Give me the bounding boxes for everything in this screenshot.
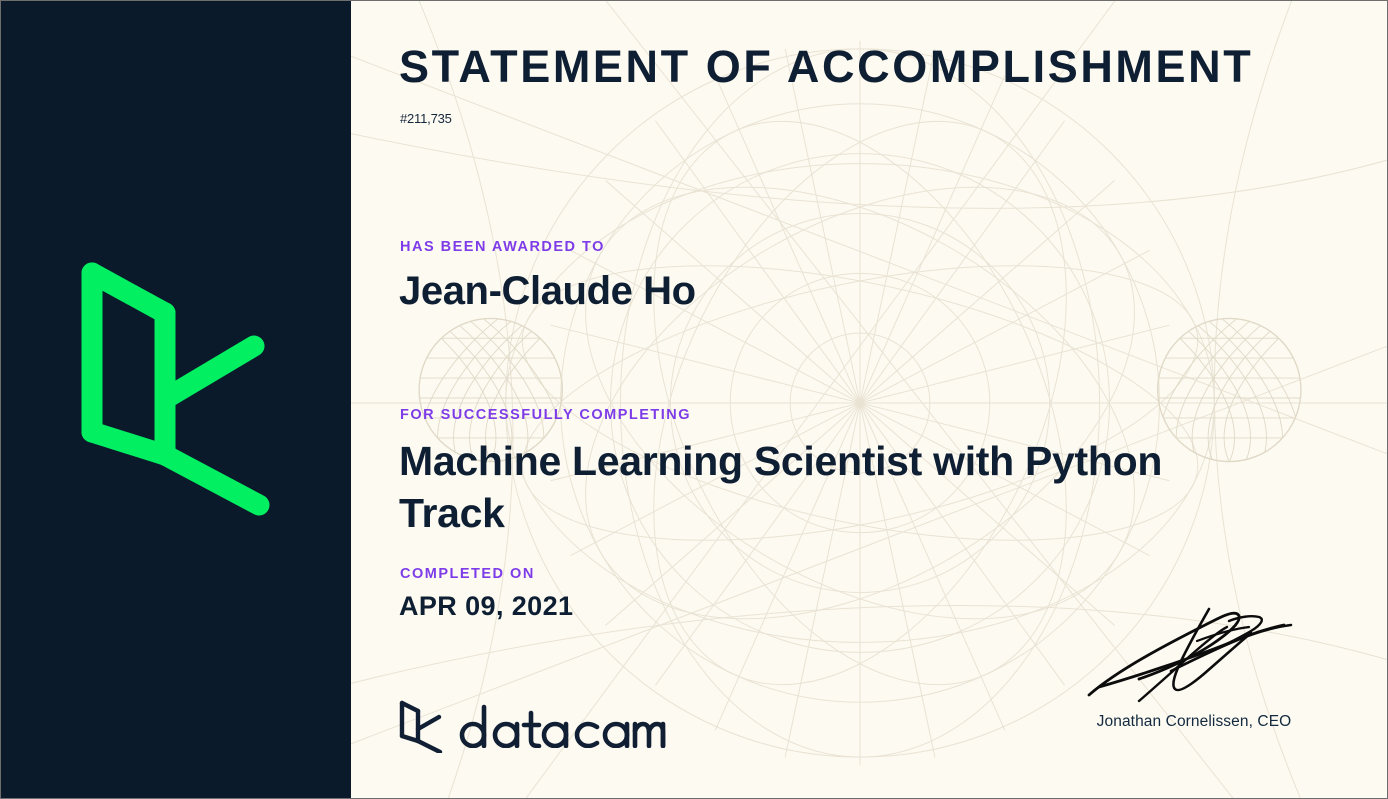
brand-sidebar [1, 1, 351, 798]
datacamp-logo-icon [79, 259, 279, 519]
certificate-card: STATEMENT OF ACCOMPLISHMENT #211,735 HAS… [0, 0, 1388, 799]
signatory-name: Jonathan Cornelissen, CEO [1049, 713, 1339, 731]
datacamp-footer-logo [399, 699, 673, 753]
awarded-to-label: HAS BEEN AWARDED TO [400, 239, 605, 255]
datacamp-wordmark-icon [459, 704, 673, 748]
course-completion-label: FOR SUCCESSFULLY COMPLETING [400, 407, 691, 423]
datacamp-logo-icon [399, 699, 445, 753]
completion-date: APR 09, 2021 [399, 591, 573, 622]
signature-block: Jonathan Cornelissen, CEO [1049, 599, 1339, 731]
certificate-body: STATEMENT OF ACCOMPLISHMENT #211,735 HAS… [351, 1, 1387, 798]
certificate-id: #211,735 [400, 111, 452, 126]
course-name: Machine Learning Scientist with Python T… [399, 435, 1259, 539]
page-title: STATEMENT OF ACCOMPLISHMENT [399, 41, 1253, 93]
handwritten-signature-icon [1079, 599, 1309, 709]
recipient-name: Jean-Claude Ho [399, 269, 696, 314]
completed-on-label: COMPLETED ON [400, 566, 535, 582]
